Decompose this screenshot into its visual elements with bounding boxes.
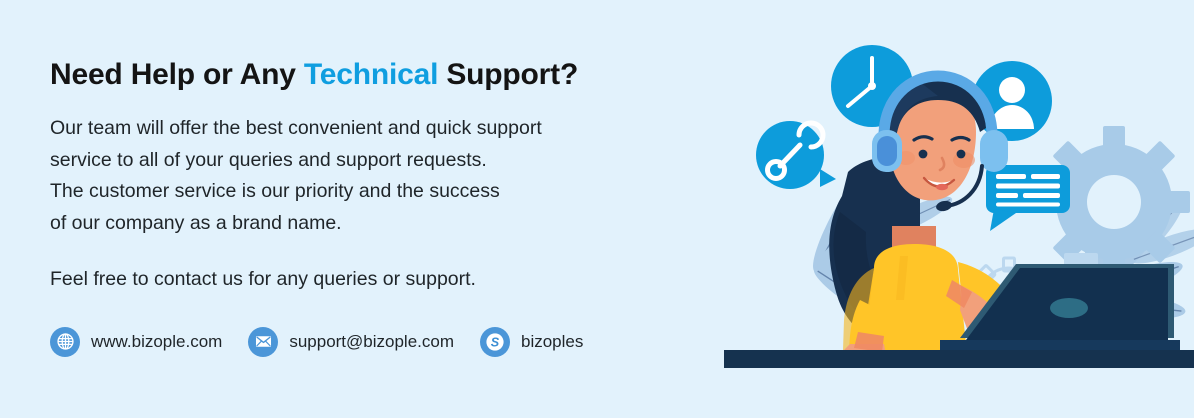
support-banner: Need Help or Any Technical Support? Our … [0,0,1194,418]
earcup-right [980,130,1008,172]
skype-icon: S [480,327,510,357]
body-line-1: Our team will offer the best convenient … [50,113,740,145]
body-line-2: service to all of your queries and suppo… [50,145,740,177]
eye-right [957,150,966,159]
contact-label-email: support@bizople.com [289,332,454,352]
globe-icon [50,327,80,357]
body-line-3: The customer service is our priority and… [50,176,740,208]
body-line-4: of our company as a brand name. [50,208,740,240]
support-illustration [724,0,1194,418]
contact-item-website[interactable]: www.bizople.com [50,327,222,357]
contact-item-email[interactable]: support@bizople.com [248,327,454,357]
tagline: Feel free to contact us for any queries … [50,265,740,294]
headline-part1: Need Help or Any [50,58,304,91]
contact-label-website: www.bizople.com [91,332,222,352]
contact-row: www.bizople.com support@bizople.com [50,327,740,357]
svg-text:S: S [491,335,500,349]
envelope-icon [248,327,278,357]
contact-item-skype[interactable]: S bizoples [480,327,583,357]
eye-left [919,150,928,159]
contact-label-skype: bizoples [521,332,583,352]
headline-part2: Support? [438,58,578,91]
wrench-speech-bubble-icon [756,121,836,189]
page-title: Need Help or Any Technical Support? [50,58,740,91]
laptop-logo [1050,298,1088,318]
body-paragraph: Our team will offer the best convenient … [50,113,740,239]
desk-surface [724,350,1194,368]
headline-accent: Technical [304,58,438,91]
content-column: Need Help or Any Technical Support? Our … [50,58,740,357]
